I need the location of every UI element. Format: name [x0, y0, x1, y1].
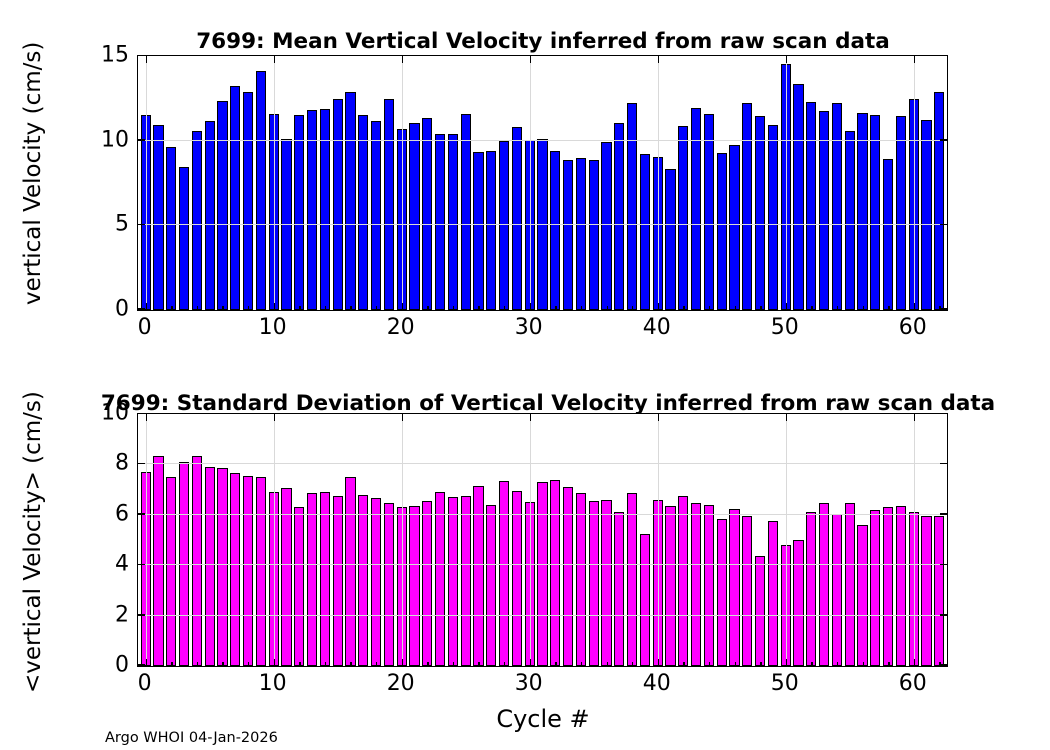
chart-panel-mean: 7699: Mean Vertical Velocity inferred fr… [0, 0, 1050, 375]
x-tick-label: 20 [387, 671, 415, 696]
x-tick-mark-minor [939, 662, 940, 666]
bar [333, 99, 343, 310]
bar [845, 131, 855, 310]
x-tick-mark-minor [453, 662, 454, 666]
bar [281, 488, 291, 666]
bar [448, 497, 458, 666]
bar [845, 503, 855, 666]
y-tick-label: 5 [115, 212, 129, 237]
bar [371, 121, 381, 310]
y-tick-label: 4 [115, 552, 129, 577]
x-tick-mark-minor [735, 306, 736, 310]
x-tick-mark [146, 303, 148, 310]
y-tick-mark [138, 664, 145, 666]
y-tick-mark [138, 463, 145, 465]
y-tick-mark [138, 614, 145, 616]
bar [883, 507, 893, 666]
x-tick-mark-minor [863, 662, 864, 666]
x-tick-mark-minor [811, 306, 812, 310]
y-tick-mark [940, 513, 947, 515]
bar [179, 167, 189, 310]
gridline-vertical [914, 56, 915, 310]
gridline-horizontal [138, 463, 947, 464]
x-tick-mark [914, 659, 916, 666]
plot-area-mean [137, 55, 948, 311]
bar [435, 134, 445, 310]
x-tick-mark [274, 303, 276, 310]
bar [307, 493, 317, 666]
x-tick-mark [530, 56, 532, 63]
bar [729, 145, 739, 310]
x-tick-label: 50 [771, 315, 799, 340]
y-tick-label: 2 [115, 602, 129, 627]
bar [422, 501, 432, 666]
x-tick-mark-minor [709, 306, 710, 310]
bar [422, 118, 432, 310]
bar [230, 86, 240, 310]
bar [409, 506, 419, 666]
x-tick-mark [914, 303, 916, 310]
gridline-vertical [530, 56, 531, 310]
x-tick-mark [658, 303, 660, 310]
bar [243, 476, 253, 666]
y-tick-label: 6 [115, 501, 129, 526]
x-tick-mark-minor [325, 306, 326, 310]
x-tick-label: 40 [643, 315, 671, 340]
bar [717, 153, 727, 310]
bar [333, 496, 343, 666]
y-axis-label-mean: vertical Velocity (cm/s) [20, 42, 46, 305]
bar [486, 505, 496, 666]
gridline-horizontal [138, 140, 947, 141]
bar [717, 519, 727, 666]
bar [486, 151, 496, 310]
bar [205, 121, 215, 310]
y-tick-label: 0 [115, 297, 129, 322]
y-tick-mark [940, 139, 947, 141]
bar [384, 503, 394, 666]
x-tick-mark-minor [683, 662, 684, 666]
gridline-vertical [146, 56, 147, 310]
x-tick-mark [658, 56, 660, 63]
bar [409, 123, 419, 310]
bar [819, 503, 829, 666]
x-axis-label: Cycle # [496, 705, 589, 733]
gridline-vertical [786, 56, 787, 310]
y-tick-mark [138, 564, 145, 566]
bar [678, 126, 688, 310]
bar [473, 152, 483, 310]
x-tick-mark [786, 303, 788, 310]
x-tick-mark-minor [837, 306, 838, 310]
x-tick-mark [146, 56, 148, 63]
x-tick-mark-minor [555, 306, 556, 310]
bar [793, 540, 803, 666]
x-tick-mark [530, 414, 532, 421]
y-tick-mark [940, 564, 947, 566]
bar [345, 92, 355, 310]
bar [256, 477, 266, 666]
x-tick-mark-minor [248, 306, 249, 310]
y-axis-label-std: <vertical Velocity> (cm/s) [20, 391, 46, 693]
bar [256, 71, 266, 310]
y-tick-mark [138, 139, 145, 141]
bar [665, 506, 675, 666]
x-tick-mark-minor [735, 662, 736, 666]
bar [614, 123, 624, 310]
bar [461, 114, 471, 310]
x-tick-mark-minor [197, 306, 198, 310]
x-tick-mark-minor [632, 306, 633, 310]
bar [896, 116, 906, 310]
bar [742, 516, 752, 666]
x-tick-label: 30 [515, 315, 543, 340]
bar [320, 492, 330, 666]
y-tick-mark [940, 224, 947, 226]
gridline-vertical [402, 414, 403, 666]
x-tick-label: 20 [387, 315, 415, 340]
x-tick-mark-minor [504, 662, 505, 666]
y-tick-label: 15 [101, 43, 129, 68]
bar [550, 151, 560, 310]
gridline-horizontal [138, 564, 947, 565]
bar [819, 111, 829, 310]
x-tick-mark-minor [555, 662, 556, 666]
bar [205, 467, 215, 666]
x-tick-mark-minor [709, 662, 710, 666]
bar [742, 103, 752, 310]
bar [857, 525, 867, 666]
bar [512, 491, 522, 666]
bar [896, 506, 906, 666]
bar [230, 473, 240, 666]
bar [448, 134, 458, 310]
x-tick-mark [914, 414, 916, 421]
x-tick-mark [146, 414, 148, 421]
bar [294, 507, 304, 666]
x-tick-mark-minor [427, 662, 428, 666]
y-tick-mark [940, 614, 947, 616]
y-tick-label: 10 [101, 127, 129, 152]
x-tick-mark-minor [222, 662, 223, 666]
x-tick-mark-minor [171, 662, 172, 666]
gridline-vertical [786, 414, 787, 666]
x-tick-mark-minor [453, 306, 454, 310]
x-tick-mark-minor [837, 662, 838, 666]
x-tick-mark-minor [760, 662, 761, 666]
bar [870, 510, 880, 666]
bar [640, 534, 650, 666]
bar [217, 101, 227, 310]
bar [921, 516, 931, 666]
bar [192, 131, 202, 310]
bar [640, 154, 650, 310]
x-tick-mark-minor [299, 662, 300, 666]
y-tick-label: 0 [115, 653, 129, 678]
bar [358, 495, 368, 666]
gridline-vertical [914, 414, 915, 666]
x-tick-mark-minor [939, 306, 940, 310]
x-tick-mark-minor [811, 662, 812, 666]
x-tick-mark-minor [197, 662, 198, 666]
bar [601, 500, 611, 666]
bar [755, 556, 765, 666]
bar [371, 498, 381, 666]
bar [627, 493, 637, 666]
y-tick-mark [138, 308, 145, 310]
x-tick-mark-minor [760, 306, 761, 310]
bar [217, 468, 227, 666]
bar [499, 481, 509, 666]
gridline-horizontal [138, 514, 947, 515]
bar [832, 514, 842, 666]
x-tick-mark-minor [478, 662, 479, 666]
bar [704, 505, 714, 666]
y-tick-mark [940, 413, 947, 414]
figure-footer: Argo WHOI 04-Jan-2026 [105, 730, 278, 746]
bar [857, 113, 867, 310]
bar [550, 480, 560, 666]
gridline-vertical [402, 56, 403, 310]
chart-title-mean: 7699: Mean Vertical Velocity inferred fr… [196, 29, 890, 54]
x-tick-label: 60 [899, 315, 927, 340]
bar [576, 493, 586, 666]
bar [704, 114, 714, 310]
y-tick-mark [138, 55, 145, 56]
x-tick-mark [402, 303, 404, 310]
x-tick-mark-minor [350, 306, 351, 310]
gridline-vertical [146, 414, 147, 666]
bar-series-std [138, 414, 947, 666]
x-tick-mark-minor [376, 662, 377, 666]
bar [627, 103, 637, 310]
bar [883, 159, 893, 310]
x-tick-mark [274, 659, 276, 666]
y-tick-mark [940, 308, 947, 310]
y-tick-mark [138, 513, 145, 515]
x-tick-mark-minor [632, 662, 633, 666]
x-tick-label: 0 [138, 671, 152, 696]
x-tick-mark [146, 659, 148, 666]
y-tick-label: 10 [101, 401, 129, 426]
bar [793, 84, 803, 310]
gridline-horizontal [138, 615, 947, 616]
x-tick-mark-minor [504, 306, 505, 310]
x-tick-mark [786, 414, 788, 421]
bar [729, 509, 739, 667]
chart-panel-std: 7699: Standard Deviation of Vertical Vel… [0, 375, 1050, 750]
x-tick-mark-minor [171, 306, 172, 310]
x-tick-mark-minor [478, 306, 479, 310]
x-tick-mark-minor [581, 662, 582, 666]
bar [512, 127, 522, 310]
x-tick-mark-minor [888, 306, 889, 310]
bar [589, 501, 599, 666]
x-tick-mark-minor [581, 306, 582, 310]
bar [153, 456, 163, 666]
figure-root: 7699: Mean Vertical Velocity inferred fr… [0, 0, 1050, 750]
bar [166, 477, 176, 666]
x-tick-mark [914, 56, 916, 63]
x-tick-mark [658, 414, 660, 421]
x-tick-mark-minor [427, 306, 428, 310]
x-tick-label: 50 [771, 671, 799, 696]
bar [921, 120, 931, 311]
x-tick-mark-minor [299, 306, 300, 310]
y-tick-mark [138, 413, 145, 414]
bar [192, 456, 202, 666]
bar [806, 512, 816, 666]
bar [934, 516, 944, 666]
bar [435, 492, 445, 666]
x-tick-mark [402, 659, 404, 666]
y-tick-mark [940, 463, 947, 465]
bar [755, 116, 765, 310]
gridline-vertical [274, 414, 275, 666]
x-tick-label: 0 [138, 315, 152, 340]
y-tick-mark [940, 664, 947, 666]
bar-series-mean [138, 56, 947, 310]
bar [678, 496, 688, 666]
x-tick-label: 10 [259, 671, 287, 696]
gridline-vertical [658, 414, 659, 666]
bar [153, 125, 163, 310]
bar [614, 512, 624, 666]
bar [934, 92, 944, 310]
gridline-horizontal [138, 224, 947, 225]
x-tick-mark [274, 56, 276, 63]
bar [806, 102, 816, 310]
x-tick-mark-minor [683, 306, 684, 310]
x-tick-mark [274, 414, 276, 421]
bar [358, 115, 368, 310]
bar [691, 108, 701, 310]
x-tick-mark [530, 303, 532, 310]
x-tick-mark-minor [325, 662, 326, 666]
bar [589, 160, 599, 310]
x-tick-mark [786, 659, 788, 666]
bar [294, 115, 304, 310]
bar [576, 158, 586, 310]
x-tick-mark-minor [607, 306, 608, 310]
x-tick-mark-minor [376, 306, 377, 310]
bar [691, 503, 701, 666]
bar [768, 521, 778, 666]
x-tick-mark [786, 56, 788, 63]
bar [166, 147, 176, 310]
bar [768, 125, 778, 310]
x-tick-mark-minor [222, 306, 223, 310]
y-tick-mark [138, 224, 145, 226]
x-tick-label: 40 [643, 671, 671, 696]
x-tick-mark-minor [888, 662, 889, 666]
y-tick-mark [940, 55, 947, 56]
bar [665, 169, 675, 310]
gridline-vertical [274, 56, 275, 310]
bar [345, 477, 355, 666]
bar [384, 99, 394, 310]
bar [243, 92, 253, 310]
x-tick-mark [658, 659, 660, 666]
y-tick-label: 8 [115, 451, 129, 476]
bar [563, 160, 573, 310]
gridline-vertical [530, 414, 531, 666]
bar [870, 115, 880, 310]
x-tick-mark [402, 414, 404, 421]
x-tick-label: 30 [515, 671, 543, 696]
x-tick-label: 10 [259, 315, 287, 340]
plot-area-std [137, 413, 948, 667]
x-tick-mark [530, 659, 532, 666]
bar [832, 103, 842, 310]
bar [537, 482, 547, 666]
x-tick-mark-minor [350, 662, 351, 666]
bar [461, 496, 471, 666]
x-tick-mark-minor [607, 662, 608, 666]
x-tick-mark-minor [863, 306, 864, 310]
gridline-vertical [658, 56, 659, 310]
x-tick-mark-minor [248, 662, 249, 666]
x-tick-mark [402, 56, 404, 63]
bar [601, 142, 611, 310]
x-tick-label: 60 [899, 671, 927, 696]
